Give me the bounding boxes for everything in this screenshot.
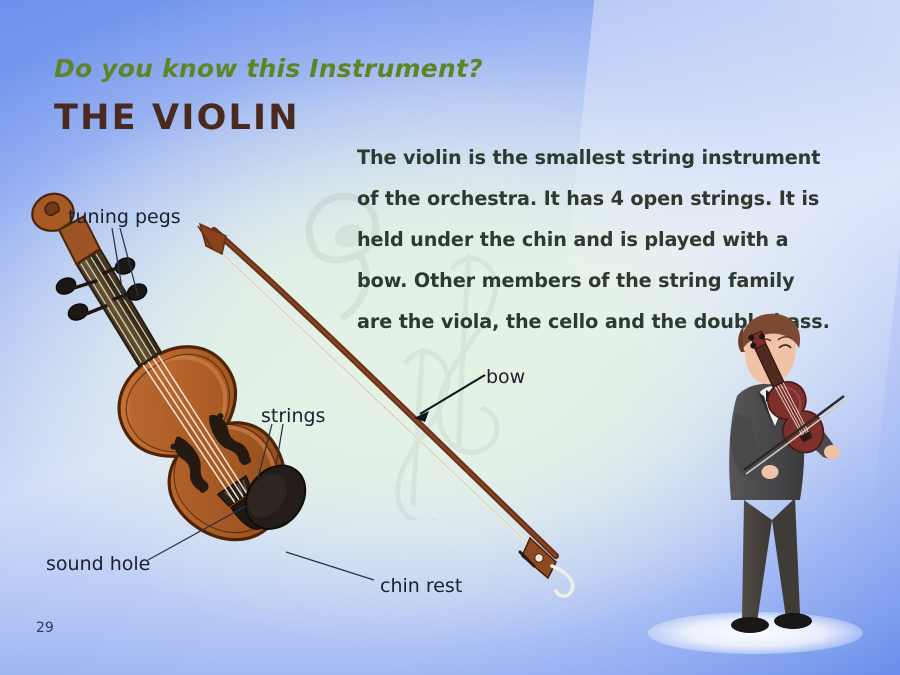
page-number: 29 — [36, 620, 54, 636]
callout-leader-lines — [112, 228, 374, 580]
bow-arrow — [414, 375, 485, 422]
violin-illustration — [25, 184, 330, 577]
body-paragraph: The violin is the smallest string instru… — [357, 137, 835, 342]
slide-kicker: Do you know this Instrument? — [54, 54, 483, 83]
callout-label-sound-hole: sound hole — [46, 553, 150, 575]
slide-canvas: Do you know this Instrument? THE VIOLIN … — [0, 0, 900, 675]
violinist-illustration — [729, 314, 846, 633]
floor-spotlight — [648, 612, 863, 654]
callout-label-strings: strings — [261, 405, 325, 427]
callout-label-bow: bow — [486, 366, 525, 388]
callout-label-tuning-pegs: tuning pegs — [68, 206, 181, 228]
page-title: THE VIOLIN — [54, 98, 300, 138]
callout-label-chin-rest: chin rest — [380, 575, 462, 597]
